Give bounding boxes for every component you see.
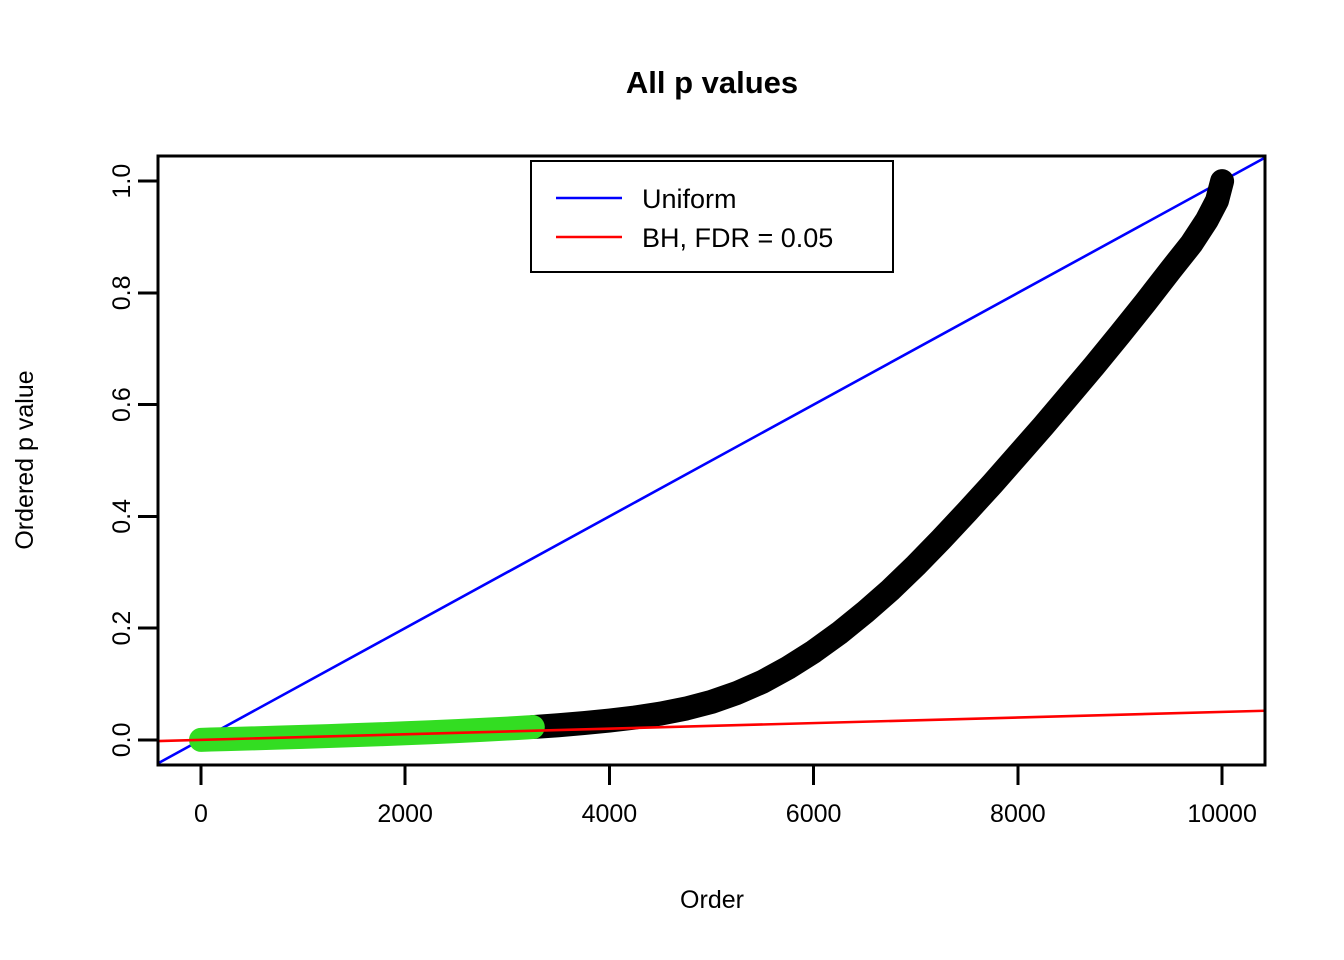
x-axis-title: Order xyxy=(680,886,744,914)
x-tick-label: 6000 xyxy=(786,800,842,828)
page-title: All p values xyxy=(626,65,798,100)
legend: Uniform BH, FDR = 0.05 xyxy=(531,161,893,272)
x-tick-label: 4000 xyxy=(582,800,638,828)
y-tick-label: 0.8 xyxy=(108,276,136,311)
legend-label-uniform: Uniform xyxy=(642,184,737,214)
y-tick-label: 0.4 xyxy=(108,499,136,534)
x-tick-label: 2000 xyxy=(377,800,433,828)
x-tick-label: 0 xyxy=(194,800,208,828)
x-tick-label: 8000 xyxy=(990,800,1046,828)
legend-frame xyxy=(531,161,893,272)
y-tick-label: 0.6 xyxy=(108,387,136,422)
plot-svg: All p values Ordered p value Order 02000… xyxy=(0,0,1344,960)
y-axis-title: Ordered p value xyxy=(11,370,39,549)
y-tick-label: 1.0 xyxy=(108,164,136,199)
legend-label-bh: BH, FDR = 0.05 xyxy=(642,223,833,253)
x-tick-label: 10000 xyxy=(1187,800,1257,828)
plot-container: All p values Ordered p value Order 02000… xyxy=(0,0,1344,960)
y-tick-label: 0.2 xyxy=(108,611,136,646)
y-tick-label: 0.0 xyxy=(108,722,136,757)
